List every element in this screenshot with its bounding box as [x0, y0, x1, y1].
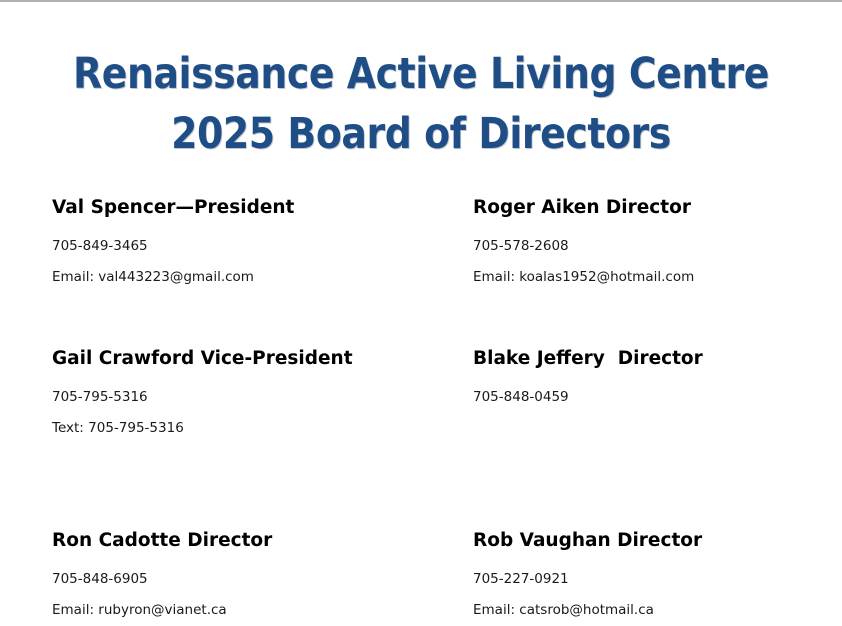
row-spacer [52, 444, 798, 529]
board-row: Gail Crawford Vice-President 705-795-531… [52, 347, 798, 444]
row-spacer [52, 293, 798, 347]
board-row: Val Spencer—President 705-849-3465 Email… [52, 196, 798, 293]
member-name: Ron Cadotte Director [52, 529, 425, 553]
board-member-entry: Rob Vaughan Director 705-227-0921 Email:… [425, 529, 798, 626]
member-name: Roger Aiken Director [473, 196, 798, 220]
title-line-organization: Renaissance Active Living Centre [51, 44, 792, 104]
member-contact: Email: catsrob@hotmail.ca [473, 595, 798, 626]
member-phone: 705-795-5316 [52, 382, 425, 413]
member-name: Rob Vaughan Director [473, 529, 798, 553]
board-row: Ron Cadotte Director 705-848-6905 Email:… [52, 529, 798, 626]
board-member-entry: Gail Crawford Vice-President 705-795-531… [52, 347, 425, 444]
member-phone: 705-849-3465 [52, 231, 425, 262]
member-phone: 705-848-0459 [473, 382, 798, 413]
document-page: Renaissance Active Living Centre 2025 Bo… [0, 0, 842, 609]
member-name: Blake Jeffery Director [473, 347, 798, 371]
member-phone: 705-578-2608 [473, 231, 798, 262]
member-contact: Text: 705-795-5316 [52, 413, 425, 444]
member-phone: 705-848-6905 [52, 564, 425, 595]
title-line-subtitle: 2025 Board of Directors [51, 104, 792, 164]
board-member-entry: Ron Cadotte Director 705-848-6905 Email:… [52, 529, 425, 626]
member-contact: Email: koalas1952@hotmail.com [473, 262, 798, 293]
member-contact: Email: val443223@gmail.com [52, 262, 425, 293]
member-phone: 705-227-0921 [473, 564, 798, 595]
board-member-entry: Val Spencer—President 705-849-3465 Email… [52, 196, 425, 293]
board-member-entry: Blake Jeffery Director 705-848-0459 [425, 347, 798, 444]
member-name: Gail Crawford Vice-President [52, 347, 425, 371]
board-member-entry: Roger Aiken Director 705-578-2608 Email:… [425, 196, 798, 293]
board-member-directory: Val Spencer—President 705-849-3465 Email… [0, 196, 842, 626]
member-contact: Email: rubyron@vianet.ca [52, 595, 425, 626]
document-title: Renaissance Active Living Centre 2025 Bo… [0, 44, 842, 164]
top-border-rule [0, 0, 842, 2]
member-name: Val Spencer—President [52, 196, 425, 220]
